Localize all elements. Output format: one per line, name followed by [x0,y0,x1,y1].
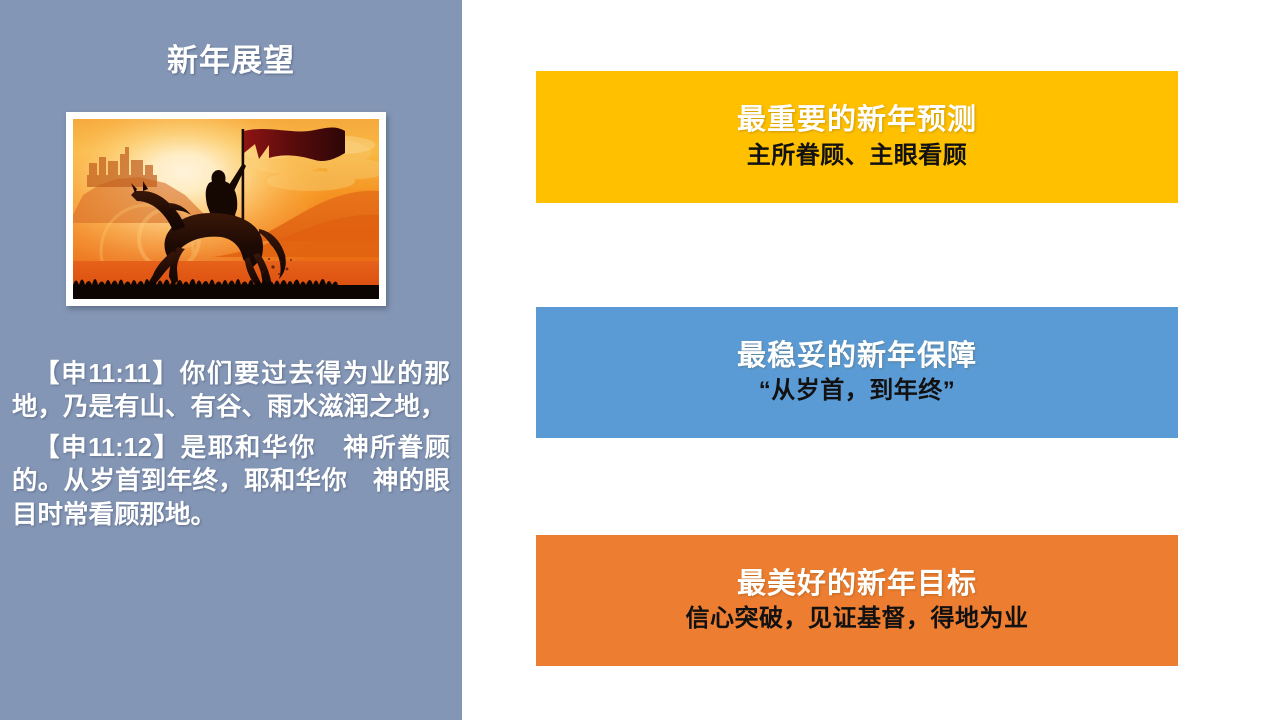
horseback-rider-image [73,119,379,299]
info-box-heading: 最重要的新年预测 [737,103,977,137]
info-box-forecast[interactable]: 最重要的新年预测 主所眷顾、主眼看顾 [536,71,1178,203]
info-box-heading: 最稳妥的新年保障 [737,339,977,373]
info-box-goal[interactable]: 最美好的新年目标 信心突破，见证基督，得地为业 [536,535,1178,666]
info-box-subheading: 信心突破，见证基督，得地为业 [686,605,1029,634]
verse-line: 【申11:12】是耶和华你 神所眷顾的。从岁首到年终，耶和华你 神的眼目时常看顾… [12,432,450,531]
page-title: 新年展望 [0,44,462,78]
presentation-slide: 新年展望 [0,0,1280,720]
verse-line: 【申11:11】你们要过去得为业的那地，乃是有山、有谷、雨水滋润之地， [12,358,450,424]
info-box-subheading: “从岁首，到年终” [759,377,956,406]
info-box-heading: 最美好的新年目标 [737,567,977,601]
left-panel: 新年展望 [0,0,462,720]
scripture-text: 【申11:11】你们要过去得为业的那地，乃是有山、有谷、雨水滋润之地， 【申11… [12,358,450,532]
info-box-subheading: 主所眷顾、主眼看顾 [747,142,968,171]
sunset-rider-illustration [73,119,379,299]
info-box-security[interactable]: 最稳妥的新年保障 “从岁首，到年终” [536,307,1178,438]
image-frame [66,112,386,306]
